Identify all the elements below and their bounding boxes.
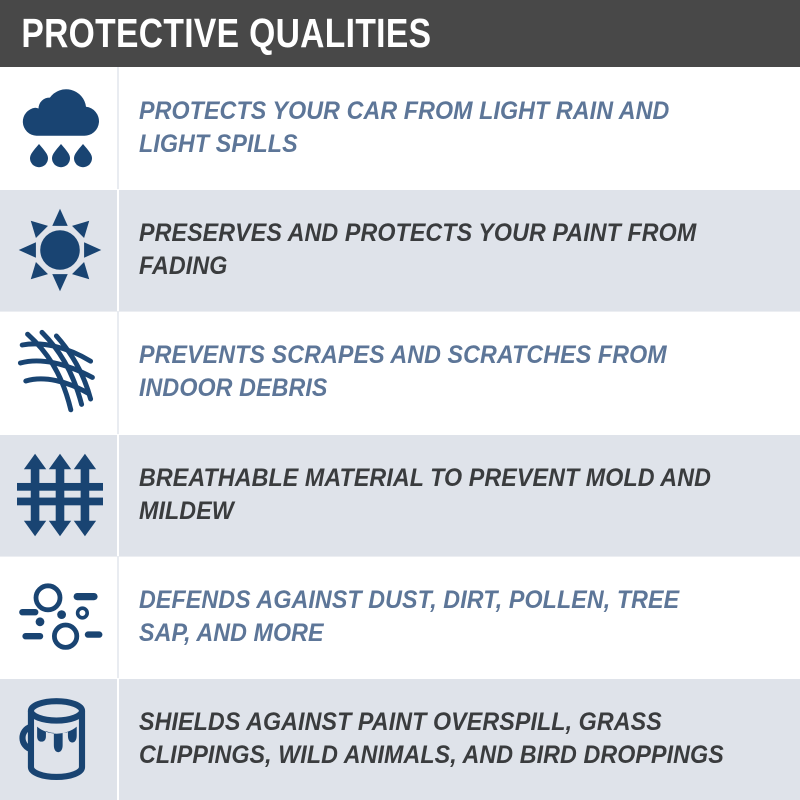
- paint-bucket-icon: [14, 693, 106, 785]
- text-cell: BREATHABLE MATERIAL TO PREVENT MOLD AND …: [119, 434, 800, 556]
- icon-cell: [0, 67, 119, 189]
- page-title: PROTECTIVE QUALITIES: [0, 13, 431, 54]
- feature-row: DEFENDS AGAINST DUST, DIRT, POLLEN, TREE…: [0, 556, 800, 678]
- feature-list: PROTECTS YOUR CAR FROM LIGHT RAIN AND LI…: [0, 67, 800, 800]
- sun-icon: [14, 204, 106, 296]
- protective-qualities-infographic: PROTECTIVE QUALITIES PROTEC: [0, 0, 800, 800]
- mesh-net-icon: [14, 326, 106, 418]
- dust-particles-icon: [14, 571, 106, 663]
- feature-text: PREVENTS SCRAPES AND SCRATCHES FROM INDO…: [139, 339, 737, 405]
- feature-text: PRESERVES AND PROTECTS YOUR PAINT FROM F…: [139, 217, 737, 283]
- icon-cell: [0, 556, 119, 678]
- text-cell: PROTECTS YOUR CAR FROM LIGHT RAIN AND LI…: [119, 67, 800, 189]
- feature-text: DEFENDS AGAINST DUST, DIRT, POLLEN, TREE…: [139, 584, 737, 650]
- rain-cloud-icon: [14, 82, 106, 174]
- feature-text: BREATHABLE MATERIAL TO PREVENT MOLD AND …: [139, 462, 737, 528]
- feature-row: PREVENTS SCRAPES AND SCRATCHES FROM INDO…: [0, 311, 800, 433]
- text-cell: PREVENTS SCRAPES AND SCRATCHES FROM INDO…: [119, 311, 800, 433]
- text-cell: DEFENDS AGAINST DUST, DIRT, POLLEN, TREE…: [119, 556, 800, 678]
- feature-text: SHIELDS AGAINST PAINT OVERSPILL, GRASS C…: [139, 706, 737, 772]
- breathable-airflow-icon: [14, 449, 106, 541]
- icon-cell: [0, 189, 119, 311]
- icon-cell: [0, 434, 119, 556]
- feature-text: PROTECTS YOUR CAR FROM LIGHT RAIN AND LI…: [139, 95, 737, 161]
- feature-row: PROTECTS YOUR CAR FROM LIGHT RAIN AND LI…: [0, 67, 800, 189]
- header-bar: PROTECTIVE QUALITIES: [0, 0, 800, 67]
- text-cell: PRESERVES AND PROTECTS YOUR PAINT FROM F…: [119, 189, 800, 311]
- feature-row: SHIELDS AGAINST PAINT OVERSPILL, GRASS C…: [0, 678, 800, 800]
- text-cell: SHIELDS AGAINST PAINT OVERSPILL, GRASS C…: [119, 678, 800, 800]
- feature-row: BREATHABLE MATERIAL TO PREVENT MOLD AND …: [0, 434, 800, 556]
- feature-row: PRESERVES AND PROTECTS YOUR PAINT FROM F…: [0, 189, 800, 311]
- icon-cell: [0, 678, 119, 800]
- icon-cell: [0, 311, 119, 433]
